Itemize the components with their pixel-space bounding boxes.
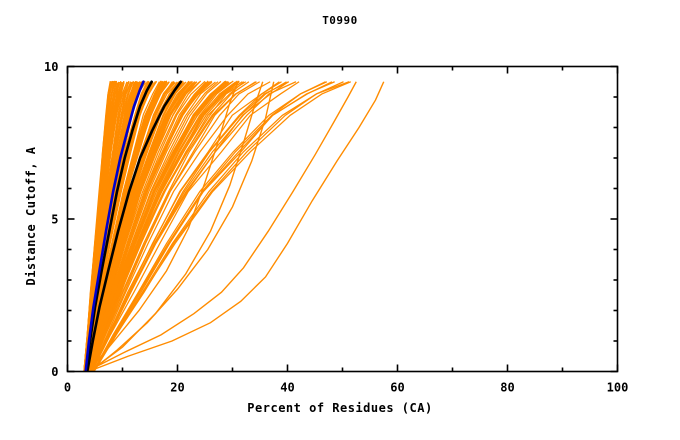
y-tick-label: 5 xyxy=(51,213,58,227)
x-axis-label: Percent of Residues (CA) xyxy=(0,401,680,415)
x-tick-label: 80 xyxy=(500,381,514,395)
x-tick-label: 20 xyxy=(170,381,184,395)
y-tick-label: 0 xyxy=(51,365,58,379)
plot-canvas: 0204060801000510 xyxy=(0,0,680,440)
x-tick-label: 100 xyxy=(607,381,629,395)
x-tick-label: 40 xyxy=(280,381,294,395)
x-tick-label: 60 xyxy=(390,381,404,395)
curves-layer xyxy=(84,81,384,373)
chart-container: T0990 0204060801000510 Percent of Residu… xyxy=(0,0,680,440)
y-tick-label: 10 xyxy=(44,60,58,74)
y-axis-label: Distance Cutoff, A xyxy=(24,106,38,326)
x-tick-label: 0 xyxy=(64,381,71,395)
